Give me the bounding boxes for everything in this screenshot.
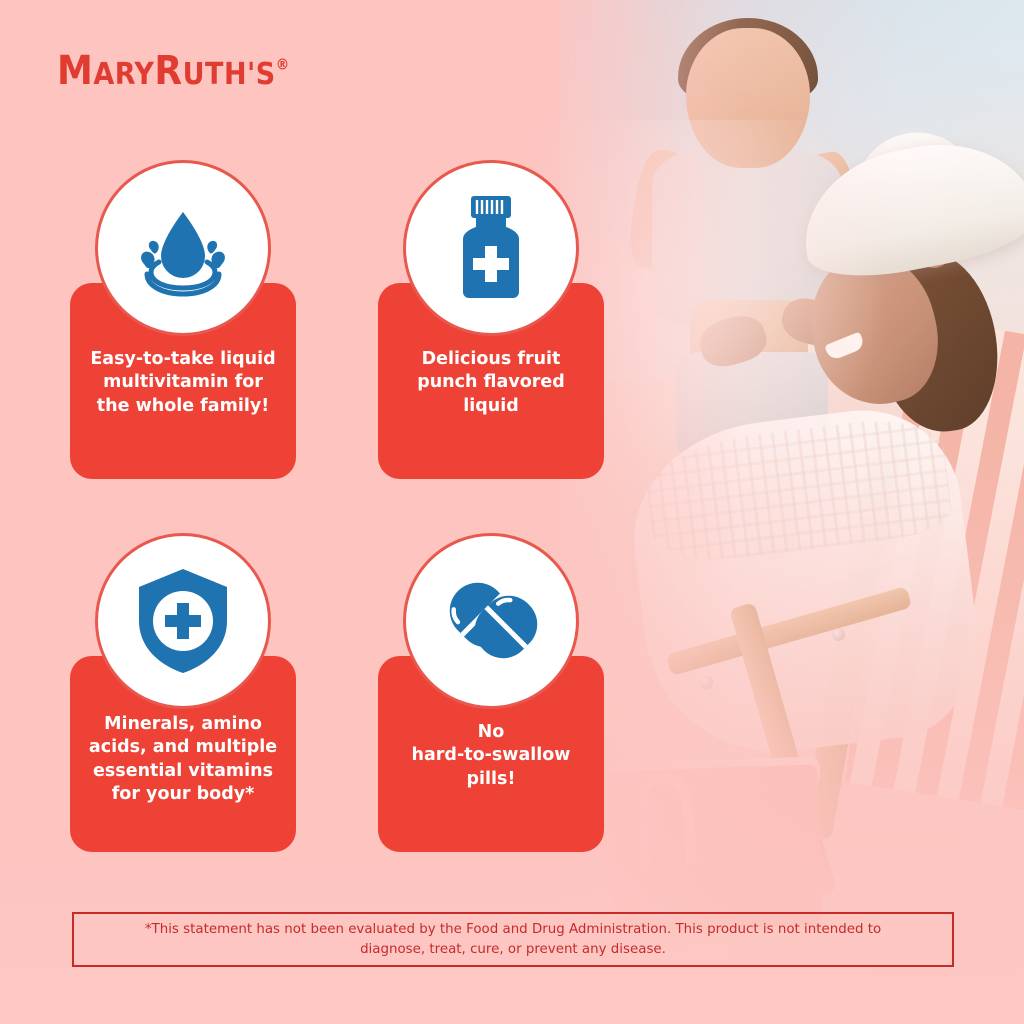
card-text-line: for your body* — [76, 783, 290, 806]
capsule-pills-icon — [432, 565, 550, 677]
card-text-line: the whole family! — [76, 395, 290, 418]
logo-s: 'S — [247, 57, 276, 92]
card-icon-circle — [95, 533, 271, 709]
brand-logo[interactable]: MARYRUTH'S® — [57, 48, 290, 94]
card-text-line: No — [384, 721, 598, 744]
logo-ary: ARY — [93, 57, 154, 92]
supplement-bottle-icon — [443, 192, 539, 304]
disclaimer-line-1: *This statement has not been evaluated b… — [145, 922, 881, 937]
fda-disclaimer-box: *This statement has not been evaluated b… — [72, 912, 954, 967]
card-text: Easy-to-take liquid multivitamin for the… — [76, 348, 290, 418]
registered-trademark-icon: ® — [276, 56, 290, 74]
disclaimer-line-2: diagnose, treat, cure, or prevent any di… — [360, 942, 666, 957]
card-text-line: liquid — [384, 395, 598, 418]
logo-m: M — [57, 48, 93, 94]
card-text-line: essential vitamins — [76, 760, 290, 783]
card-icon-circle — [403, 533, 579, 709]
card-text: Minerals, amino acids, and multiple esse… — [76, 713, 290, 806]
card-text-line: multivitamin for — [76, 371, 290, 394]
card-text-line: Minerals, amino — [76, 713, 290, 736]
card-text-line: hard-to-swallow — [384, 744, 598, 767]
shield-cross-icon — [131, 565, 235, 677]
logo-r: R — [154, 48, 182, 94]
card-icon-circle — [95, 160, 271, 336]
card-text-line: Delicious fruit — [384, 348, 598, 371]
logo-uth: UTH — [183, 57, 247, 92]
water-droplet-splash-icon — [127, 198, 239, 298]
card-text-line: pills! — [384, 768, 598, 791]
card-text-line: acids, and multiple — [76, 736, 290, 759]
disclaimer-text: *This statement has not been evaluated b… — [145, 920, 881, 958]
card-text-line: punch flavored — [384, 371, 598, 394]
card-text: No hard-to-swallow pills! — [384, 721, 598, 791]
card-text: Delicious fruit punch flavored liquid — [384, 348, 598, 418]
card-icon-circle — [403, 160, 579, 336]
card-text-line: Easy-to-take liquid — [76, 348, 290, 371]
